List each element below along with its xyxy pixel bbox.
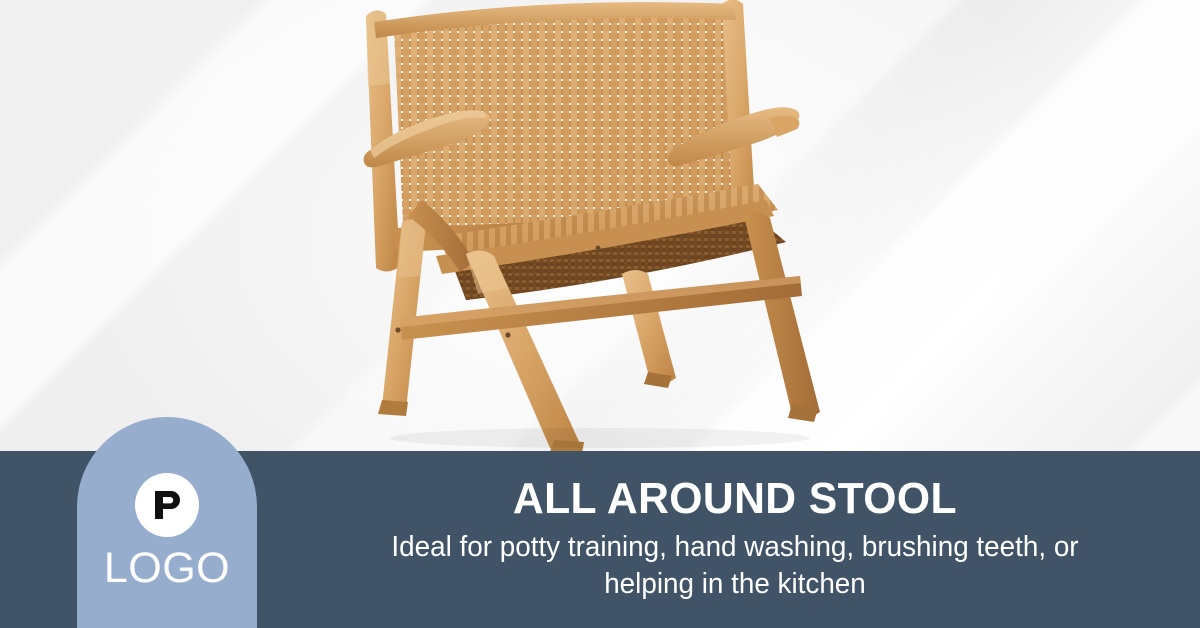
logo-mark-icon bbox=[135, 473, 199, 537]
logo-panel[interactable]: LOGO bbox=[77, 417, 257, 628]
product-image bbox=[330, 0, 900, 452]
subline: Ideal for potty training, hand washing, … bbox=[389, 529, 1080, 603]
headline: ALL AROUND STOOL bbox=[512, 476, 956, 523]
logo-wordmark: LOGO bbox=[77, 547, 257, 590]
promo-banner: LOGO ALL AROUND STOOL Ideal for potty tr… bbox=[0, 0, 1200, 628]
subline-line-1: Ideal for potty training, hand washing, … bbox=[391, 531, 968, 563]
copy-block: ALL AROUND STOOL Ideal for potty trainin… bbox=[285, 451, 1184, 628]
